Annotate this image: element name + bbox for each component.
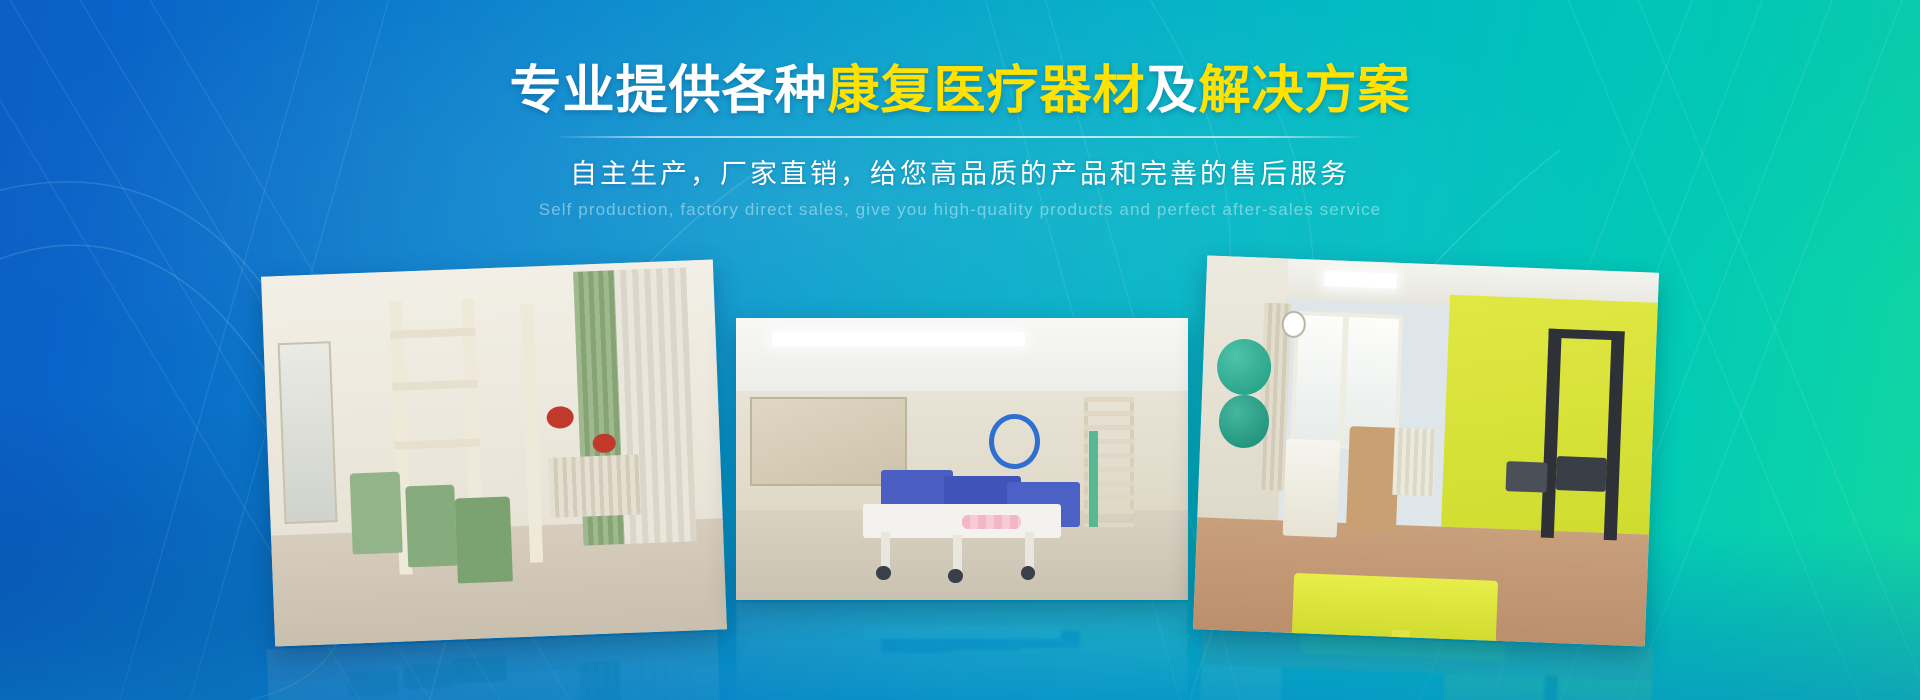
- headline-segment-yellow-1: 康复医疗器材: [827, 62, 1145, 120]
- subtitle-chinese: 自主生产，厂家直销，给您高品质的产品和完善的售后服务: [0, 152, 1920, 191]
- headline-segment-yellow-2: 解决方案: [1199, 62, 1411, 120]
- headline-block: 专业提供各种康复医疗器材及解决方案 自主生产，厂家直销，给您高品质的产品和完善的…: [0, 62, 1920, 220]
- page-title: 专业提供各种康复医疗器材及解决方案: [0, 62, 1920, 120]
- photo-rehab-gym-right[interactable]: [1193, 255, 1659, 646]
- promo-banner: 专业提供各种康复医疗器材及解决方案 自主生产，厂家直销，给您高品质的产品和完善的…: [0, 0, 1920, 700]
- headline-segment-white-1: 专业提供各种: [509, 62, 827, 120]
- headline-divider: [560, 136, 1360, 138]
- photo-rehab-clinic-center[interactable]: [736, 318, 1188, 600]
- photo-rehab-training-room-left[interactable]: [261, 259, 727, 646]
- subtitle-english: Self production, factory direct sales, g…: [0, 200, 1920, 220]
- headline-segment-white-2: 及: [1146, 62, 1199, 120]
